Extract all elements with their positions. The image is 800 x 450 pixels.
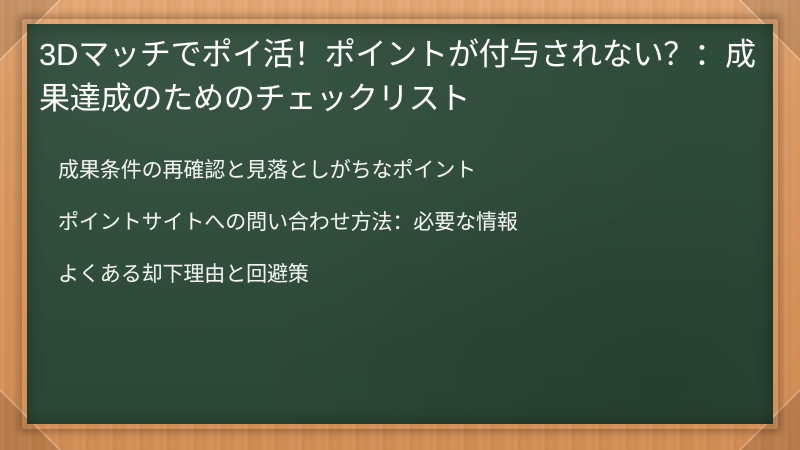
blackboard-frame: 3Dマッチでポイ活！ポイントが付与されない？：成果達成のためのチェックリスト 成…	[0, 0, 800, 450]
list-item: よくある却下理由と回避策	[58, 249, 757, 301]
page-title: 3Dマッチでポイ活！ポイントが付与されない？：成果達成のためのチェックリスト	[39, 33, 757, 121]
list-item: ポイントサイトへの問い合わせ方法：必要な情報	[58, 197, 757, 249]
chalkboard-content: 3Dマッチでポイ活！ポイントが付与されない？：成果達成のためのチェックリスト 成…	[27, 24, 773, 424]
chalkboard-surface: 3Dマッチでポイ活！ポイントが付与されない？：成果達成のためのチェックリスト 成…	[27, 24, 773, 424]
chapter-list: 成果条件の再確認と見落としがちなポイント ポイントサイトへの問い合わせ方法：必要…	[39, 145, 757, 301]
list-item: 成果条件の再確認と見落としがちなポイント	[58, 145, 757, 197]
